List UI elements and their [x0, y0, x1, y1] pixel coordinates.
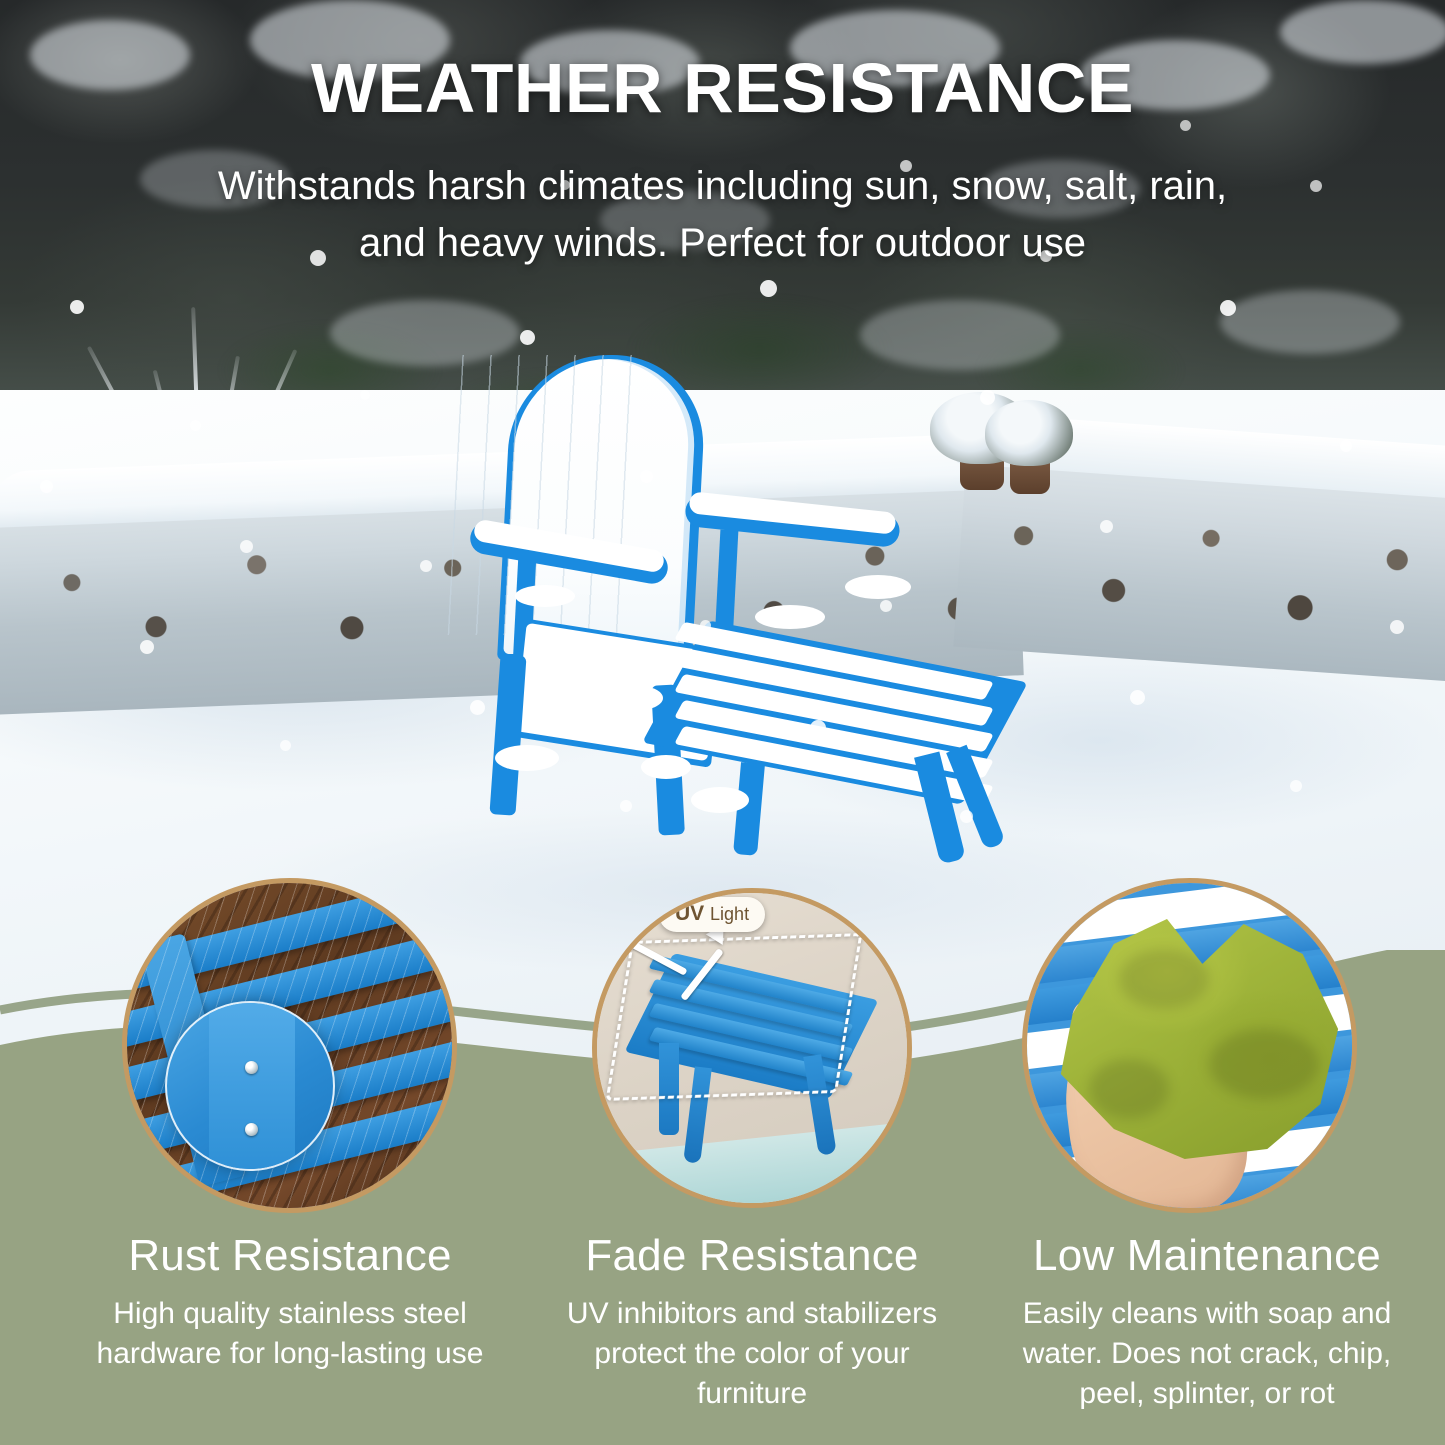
page-subtitle-line2: and heavy winds. Perfect for outdoor use — [0, 215, 1445, 272]
uv-light-badge: UV Light — [659, 897, 765, 932]
feature-image-low-maintenance — [1022, 878, 1357, 1213]
feature-desc-line: peel, splinter, or rot — [1079, 1377, 1334, 1410]
adirondack-chair-product — [455, 355, 1015, 875]
feature-card-low-maintenance: Low Maintenance Easily cleans with soap … — [972, 1232, 1442, 1413]
page-subtitle-line1: Withstands harsh climates including sun,… — [0, 158, 1445, 215]
magnified-panel — [209, 1003, 295, 1171]
product-feature-poster: WEATHER RESISTANCE Withstands harsh clim… — [0, 0, 1445, 1445]
stainless-screw-icon — [245, 1061, 258, 1074]
stainless-screw-icon — [245, 1123, 258, 1136]
feature-title: Fade Resistance — [517, 1232, 987, 1280]
page-subtitle: Withstands harsh climates including sun,… — [0, 158, 1445, 272]
feature-image-rust-resistance — [122, 878, 457, 1213]
chair-leg-front-left — [489, 654, 526, 815]
uv-badge-strong: UV — [675, 902, 704, 925]
uv-protection-dashed-outline — [606, 933, 863, 1101]
feature-description: High quality stainless steel hardware fo… — [55, 1294, 525, 1373]
feature-desc-line: protect the color of your — [594, 1337, 909, 1370]
feature-image-fade-resistance: UV Light — [592, 888, 912, 1208]
feature-desc-line: Easily cleans with soap and — [1023, 1297, 1392, 1330]
feature-description: Easily cleans with soap and water. Does … — [972, 1294, 1442, 1413]
feature-desc-line: UV inhibitors and stabilizers — [567, 1297, 937, 1330]
feature-card-fade-resistance: Fade Resistance UV inhibitors and stabil… — [517, 1232, 987, 1413]
feature-desc-line: High quality stainless steel — [113, 1297, 467, 1330]
ottoman — [675, 645, 1005, 855]
feature-title: Low Maintenance — [972, 1232, 1442, 1280]
feature-card-rust-resistance: Rust Resistance High quality stainless s… — [55, 1232, 525, 1374]
feature-desc-line: furniture — [697, 1377, 807, 1410]
page-title: WEATHER RESISTANCE — [0, 48, 1445, 128]
uv-badge-light: Light — [710, 904, 749, 924]
feature-desc-line: hardware for long-lasting use — [97, 1337, 484, 1370]
magnifier-inset-screws — [165, 1001, 335, 1171]
feature-desc-line: water. Does not crack, chip, — [1023, 1337, 1392, 1370]
feature-description: UV inhibitors and stabilizers protect th… — [517, 1294, 987, 1413]
feature-title: Rust Resistance — [55, 1232, 525, 1280]
